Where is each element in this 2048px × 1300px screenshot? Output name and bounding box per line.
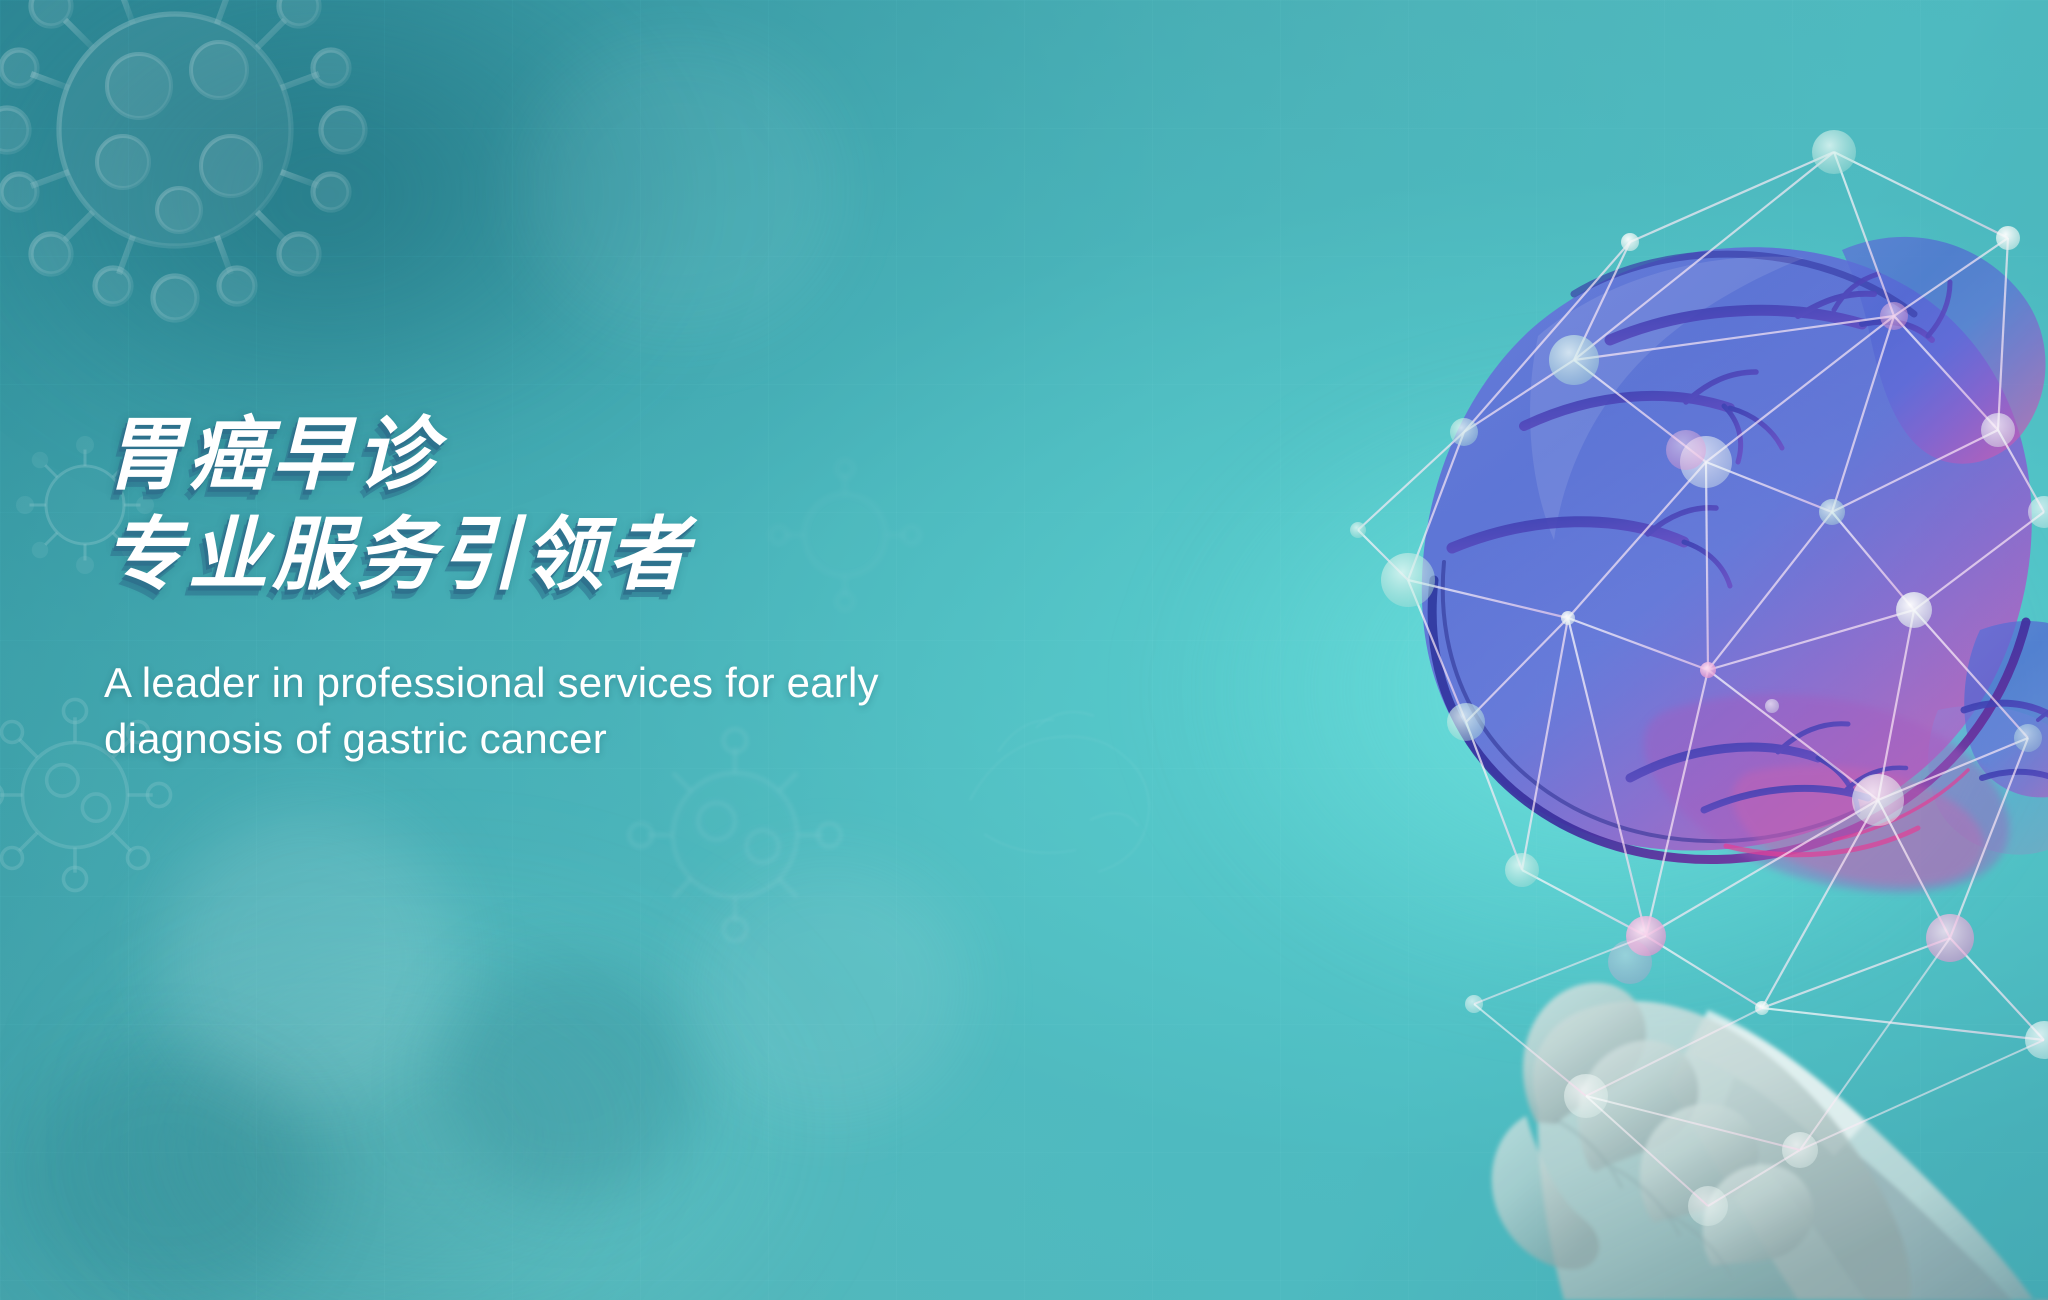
bokeh-blob	[440, 960, 700, 1200]
virus-particle-icon	[0, 0, 390, 330]
network-node	[1561, 611, 1575, 625]
stomach-organ	[1422, 237, 2048, 893]
network-node	[1666, 430, 1706, 470]
network-node	[1381, 553, 1435, 607]
headline-line-1: 胃癌早诊	[104, 412, 1104, 498]
stomach-network-illustration	[1238, 110, 2048, 1300]
network-node	[1549, 335, 1599, 385]
network-node	[1880, 302, 1908, 330]
network-node	[1896, 592, 1932, 628]
network-node	[1608, 940, 1652, 984]
subtitle-line-1: A leader in professional services for ea…	[104, 659, 879, 706]
network-node	[1621, 233, 1639, 251]
subtitle: A leader in professional services for ea…	[104, 655, 1104, 766]
subtitle-line-2: diagnosis of gastric cancer	[104, 715, 607, 762]
headline-line-2: 专业服务引领者	[104, 512, 1104, 598]
network-node	[1996, 226, 2020, 250]
network-node	[1447, 703, 1485, 741]
bokeh-blob	[520, 40, 840, 340]
network-node	[1819, 499, 1845, 525]
network-node	[2014, 724, 2042, 752]
network-node	[2025, 1021, 2048, 1059]
hero-copy: 胃癌早诊 专业服务引领者 A leader in professional se…	[104, 412, 1104, 766]
network-node	[1505, 853, 1539, 887]
banner-hero: 胃癌早诊 专业服务引领者 A leader in professional se…	[0, 0, 2048, 1300]
network-node	[1700, 662, 1716, 678]
network-node	[1765, 699, 1779, 713]
bokeh-blob	[20, 1050, 320, 1300]
network-node	[1812, 130, 1856, 174]
network-node	[1350, 522, 1366, 538]
network-node	[1852, 774, 1904, 826]
network-node	[1450, 418, 1478, 446]
network-node	[1981, 413, 2015, 447]
